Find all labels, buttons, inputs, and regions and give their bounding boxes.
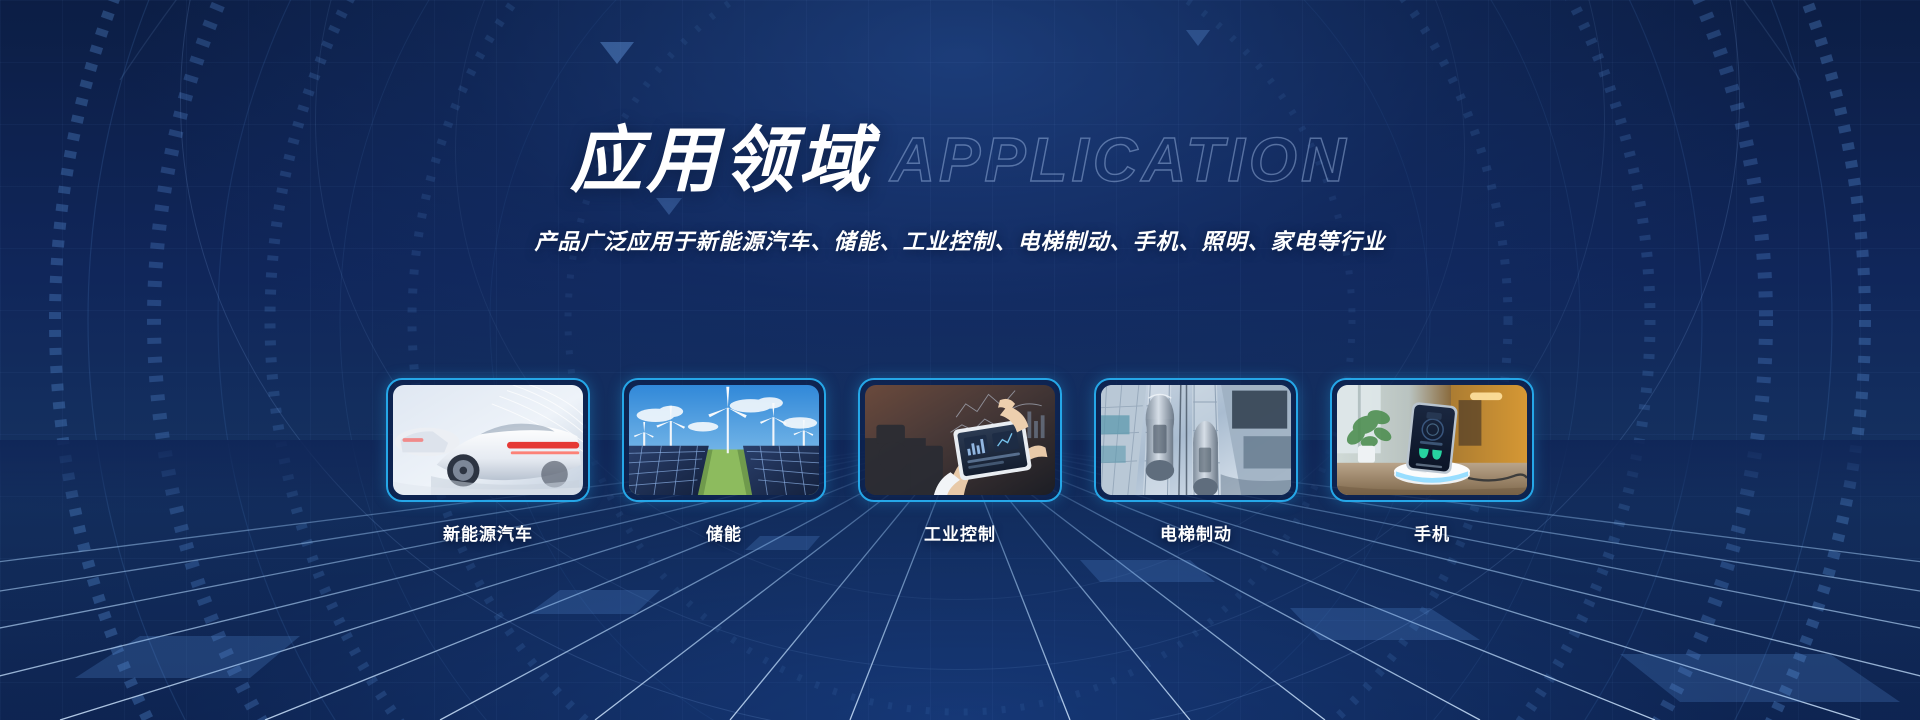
- list-item[interactable]: 电梯制动: [1094, 378, 1298, 545]
- application-card-elevator-braking[interactable]: [1094, 378, 1298, 502]
- page-title-english: APPLICATION: [890, 126, 1350, 195]
- list-item[interactable]: 新能源汽车: [386, 378, 590, 545]
- banner-heading-group: 应用领域APPLICATION 产品广泛应用于新能源汽车、储能、工业控制、电梯制…: [0, 118, 1920, 256]
- background-radar-arcs: [10, 0, 1910, 720]
- background-glow-ring-1: [180, 0, 1740, 720]
- application-card-list: 新能源汽车: [0, 378, 1920, 545]
- application-banner: 应用领域APPLICATION 产品广泛应用于新能源汽车、储能、工业控制、电梯制…: [0, 0, 1920, 720]
- application-card-label: 电梯制动: [1160, 520, 1232, 545]
- list-item[interactable]: 手机: [1330, 378, 1534, 545]
- application-card-energy-storage[interactable]: [622, 378, 826, 502]
- list-item[interactable]: 工业控制: [858, 378, 1062, 545]
- mobile-phone-photo: [1337, 385, 1527, 495]
- triangle-accent-1: [600, 42, 634, 64]
- application-card-label: 工业控制: [924, 520, 996, 545]
- page-title: 应用领域: [570, 121, 874, 201]
- background-glow-ring-2: [315, 0, 1605, 670]
- page-subtitle: 产品广泛应用于新能源汽车、储能、工业控制、电梯制动、手机、照明、家电等行业: [0, 224, 1920, 256]
- background-dot-grid: [0, 0, 1920, 720]
- list-item[interactable]: 储能: [622, 378, 826, 545]
- triangle-accent-3: [1186, 30, 1210, 46]
- application-card-new-energy-vehicle[interactable]: [386, 378, 590, 502]
- application-card-industrial-control[interactable]: [858, 378, 1062, 502]
- application-card-label: 储能: [706, 520, 742, 545]
- title-row: 应用领域APPLICATION: [570, 118, 1350, 204]
- elevator-braking-photo: [1101, 385, 1291, 495]
- application-card-label: 手机: [1414, 520, 1450, 545]
- application-card-mobile-phone[interactable]: [1330, 378, 1534, 502]
- energy-storage-photo: [629, 385, 819, 495]
- new-energy-vehicle-photo: [393, 385, 583, 495]
- industrial-control-photo: [865, 385, 1055, 495]
- application-card-label: 新能源汽车: [443, 520, 533, 545]
